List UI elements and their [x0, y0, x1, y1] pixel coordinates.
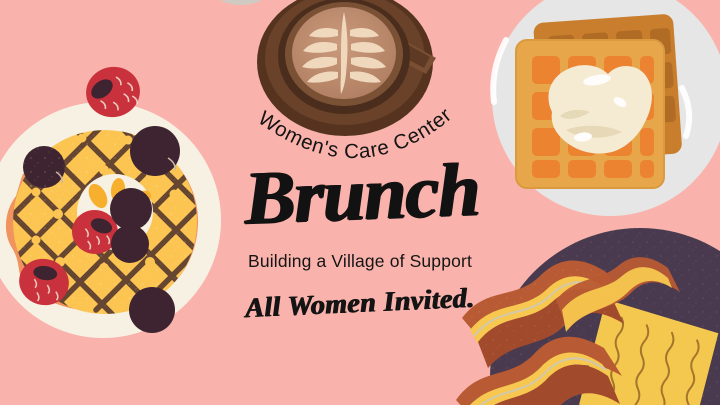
tagline-text: Building a Village of Support [210, 251, 510, 272]
headline-brunch: Brunch [230, 147, 493, 241]
square-waffles-illustration [492, 0, 720, 216]
blackberry [23, 146, 65, 188]
brunch-event-poster: Women's Care Center Brunch Building a Vi… [0, 0, 720, 405]
blackberry [130, 126, 180, 176]
blackberry [110, 188, 152, 230]
blackberry [129, 287, 175, 333]
blackberry [111, 225, 149, 263]
